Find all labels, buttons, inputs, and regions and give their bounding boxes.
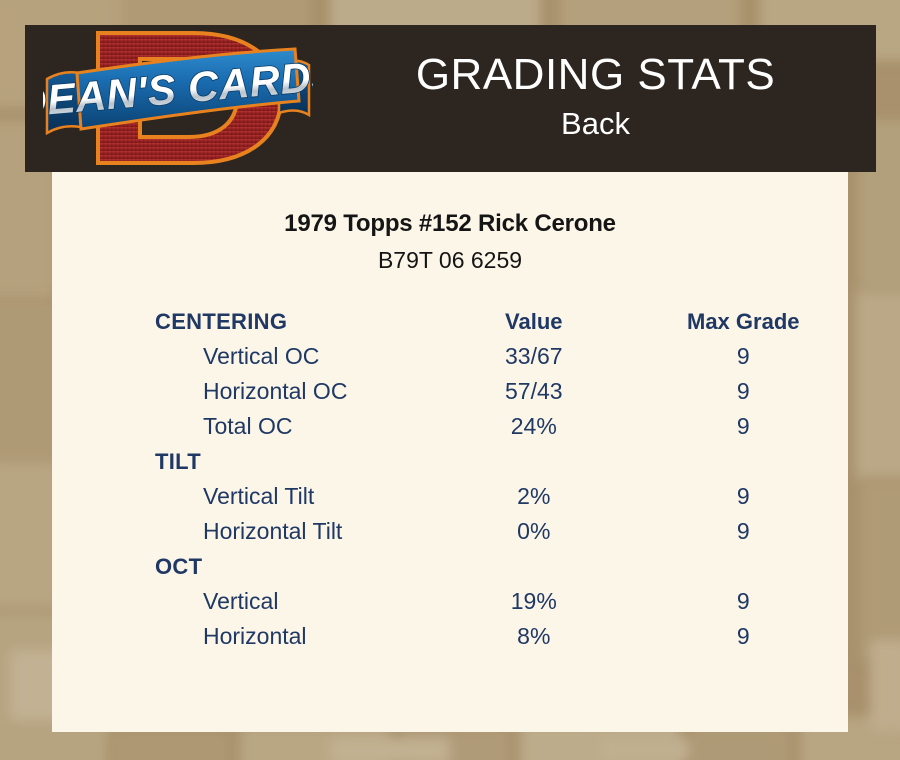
stat-row: Horizontal OC57/439 [52,374,848,409]
stat-label: Vertical Tilt [52,479,429,514]
stat-row: Horizontal8%9 [52,619,848,654]
column-header-max-grade: Max Grade [639,304,848,339]
stat-max-grade: 9 [639,584,848,619]
stat-value: 33/67 [429,339,638,374]
section-header-row: OCT [52,549,848,584]
column-header-value: Value [429,304,638,339]
stat-value: 0% [429,514,638,549]
stat-max-grade: 9 [639,619,848,654]
section-header-row: CENTERINGValueMax Grade [52,304,848,339]
section-title: CENTERING [52,304,429,339]
column-header-max-grade [639,549,848,584]
page-subtitle: Back [561,103,630,145]
column-header-value [429,444,638,479]
grading-stats-table: CENTERINGValueMax GradeVertical OC33/679… [52,304,848,654]
stat-max-grade: 9 [639,339,848,374]
stat-row: Vertical19%9 [52,584,848,619]
stat-label: Vertical [52,584,429,619]
header-bar: DEAN'S CARDS GRADING STATS Back [25,25,876,172]
card-title: 1979 Topps #152 Rick Cerone [52,210,848,238]
stat-max-grade: 9 [639,409,848,444]
card-serial-number: B79T 06 6259 [52,247,848,274]
section-title: TILT [52,444,429,479]
stat-row: Vertical OC33/679 [52,339,848,374]
stat-row: Horizontal Tilt0%9 [52,514,848,549]
deans-cards-logo[interactable]: DEAN'S CARDS [43,27,313,169]
stat-max-grade: 9 [639,374,848,409]
stat-row: Vertical Tilt2%9 [52,479,848,514]
stat-label: Total OC [52,409,429,444]
header-title-block: GRADING STATS Back [315,25,876,172]
stat-max-grade: 9 [639,514,848,549]
stat-label: Vertical OC [52,339,429,374]
stat-value: 19% [429,584,638,619]
stat-value: 57/43 [429,374,638,409]
column-header-max-grade [639,444,848,479]
stat-value: 24% [429,409,638,444]
stat-label: Horizontal OC [52,374,429,409]
stat-row: Total OC24%9 [52,409,848,444]
stat-label: Horizontal [52,619,429,654]
stat-max-grade: 9 [639,479,848,514]
content-panel: 1979 Topps #152 Rick Cerone B79T 06 6259… [52,172,848,732]
stats-table-body: CENTERINGValueMax GradeVertical OC33/679… [52,304,848,654]
stat-label: Horizontal Tilt [52,514,429,549]
page-title: GRADING STATS [416,52,775,98]
section-header-row: TILT [52,444,848,479]
stat-value: 8% [429,619,638,654]
section-title: OCT [52,549,429,584]
column-header-value [429,549,638,584]
stat-value: 2% [429,479,638,514]
